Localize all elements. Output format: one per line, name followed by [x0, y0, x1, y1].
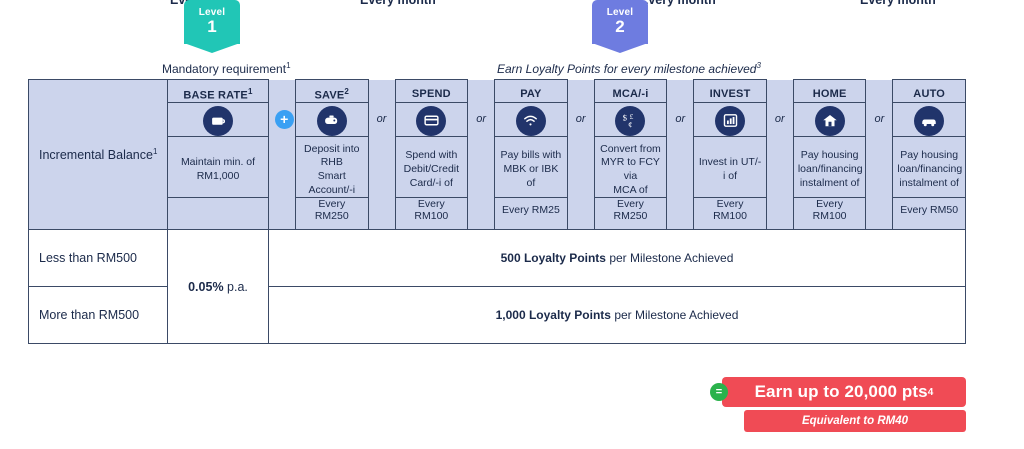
- piggy-bank-icon: [317, 106, 347, 136]
- or-connector-5: or: [766, 102, 793, 136]
- top-cutoff-row: Every day Every month Every month Every …: [0, 0, 1024, 12]
- desc-auto: Pay housing loan/financing instalment of: [893, 136, 966, 198]
- desc-pay: Pay bills with MBK or IBK of: [495, 136, 568, 198]
- spacer-desc-0: [269, 136, 296, 198]
- tier-2-points-value: 1,000 Loyalty Points: [496, 308, 611, 322]
- icon-cell-base-rate: [168, 102, 269, 136]
- wifi-contactless-icon: [516, 106, 546, 136]
- base-rate-suffix: p.a.: [224, 280, 248, 294]
- column-title-invest: INVEST: [694, 80, 767, 103]
- tier-label-more-than: More than RM500: [29, 287, 168, 344]
- card-swipe-icon: [203, 106, 233, 136]
- spacer-every-6: [866, 198, 893, 230]
- column-title-pay: PAY: [495, 80, 568, 103]
- tier-1-points-value: 500 Loyalty Points: [501, 251, 606, 265]
- spacer-plus-title: [269, 80, 296, 103]
- credit-card-icon: [416, 106, 446, 136]
- rewards-matrix-table: Incremental Balance1 BASE RATE1 SAVE2 SP…: [28, 79, 966, 344]
- level-1-number: 1: [207, 18, 216, 36]
- every-base-rate: [168, 198, 269, 230]
- spacer-or-title-3: [567, 80, 594, 103]
- base-rate-value-cell: 0.05% p.a.: [168, 230, 269, 344]
- column-title-auto: AUTO: [893, 80, 966, 103]
- incremental-balance-label-cell: Incremental Balance1: [29, 80, 168, 230]
- spacer-desc-6: [866, 136, 893, 198]
- table-row-icons: + or or: [29, 102, 966, 136]
- earn-up-to-text: Earn up to 20,000 pts: [755, 382, 928, 402]
- icon-cell-home: [793, 102, 866, 136]
- equivalent-banner: Equivalent to RM40: [744, 410, 966, 432]
- coin-icon: =: [710, 383, 728, 401]
- spacer-every-4: [667, 198, 694, 230]
- every-home: Every RM100: [793, 198, 866, 230]
- level-2-number: 2: [615, 18, 624, 36]
- icon-cell-auto: [893, 102, 966, 136]
- every-save: Every RM250: [296, 198, 369, 230]
- spacer-every-1: [368, 198, 395, 230]
- table-row-tier-1: Less than RM500 0.05% p.a. 500 Loyalty P…: [29, 230, 966, 287]
- plus-icon: +: [275, 110, 294, 129]
- tier-1-points-cell: 500 Loyalty Points per Milestone Achieve…: [269, 230, 966, 287]
- every-auto: Every RM50: [893, 198, 966, 230]
- or-connector-2: or: [468, 102, 495, 136]
- spacer-desc-3: [567, 136, 594, 198]
- spacer-every-5: [766, 198, 793, 230]
- mandatory-requirement-caption: Mandatory requirement1: [162, 61, 291, 76]
- top-cut-text-2: Every month: [640, 0, 716, 7]
- spacer-desc-1: [368, 136, 395, 198]
- column-title-base-rate: BASE RATE1: [168, 80, 269, 103]
- desc-base-rate: Maintain min. of RM1,000: [168, 136, 269, 198]
- tier-2-points-cell: 1,000 Loyalty Points per Milestone Achie…: [269, 287, 966, 344]
- earn-loyalty-points-superscript: 3: [756, 61, 760, 70]
- infographic-canvas: Every day Every month Every month Every …: [0, 0, 1024, 449]
- column-title-save: SAVE2: [296, 80, 369, 103]
- bar-chart-icon: [715, 106, 745, 136]
- desc-spend: Spend with Debit/Credit Card/-i of: [395, 136, 468, 198]
- desc-mca: Convert from MYR to FCY via MCA of: [594, 136, 667, 198]
- icon-cell-pay: [495, 102, 568, 136]
- column-title-spend: SPEND: [395, 80, 468, 103]
- desc-save: Deposit into RHB Smart Account/-i: [296, 136, 369, 198]
- or-connector-4: or: [667, 102, 694, 136]
- or-connector-3: or: [567, 102, 594, 136]
- earn-loyalty-points-text: Earn Loyalty Points for every milestone …: [497, 62, 756, 76]
- earn-up-to-banner: = Earn up to 20,000 pts4: [722, 377, 966, 407]
- spacer-desc-5: [766, 136, 793, 198]
- tier-label-less-than: Less than RM500: [29, 230, 168, 287]
- table-row-descriptions: Maintain min. of RM1,000 Deposit into RH…: [29, 136, 966, 198]
- icon-cell-save: [296, 102, 369, 136]
- house-icon: [815, 106, 845, 136]
- level-1-badge: Level 1: [184, 0, 240, 44]
- column-title-home: HOME: [793, 80, 866, 103]
- every-invest: Every RM100: [694, 198, 767, 230]
- top-cut-text-3: Every month: [860, 0, 936, 7]
- spacer-desc-4: [667, 136, 694, 198]
- svg-text:$: $: [623, 113, 628, 123]
- plus-connector-cell: +: [269, 102, 296, 136]
- column-title-mca: MCA/-i: [594, 80, 667, 103]
- car-icon: [914, 106, 944, 136]
- table-row-column-titles: Incremental Balance1 BASE RATE1 SAVE2 SP…: [29, 80, 966, 103]
- earn-up-to-superscript: 4: [928, 387, 934, 398]
- currency-exchange-icon: $ £ ¢: [615, 106, 645, 136]
- icon-cell-spend: [395, 102, 468, 136]
- top-cut-text-1: Every month: [360, 0, 436, 7]
- desc-invest: Invest in UT/-i of: [694, 136, 767, 198]
- spacer-every-0: [269, 198, 296, 230]
- spacer-or-title-1: [368, 80, 395, 103]
- tier-1-points-suffix: per Milestone Achieved: [606, 251, 733, 265]
- base-rate-percent: 0.05%: [188, 280, 223, 294]
- table-row-every-amount: Every RM250 Every RM100 Every RM25 Every…: [29, 198, 966, 230]
- icon-cell-mca: $ £ ¢: [594, 102, 667, 136]
- spacer-every-2: [468, 198, 495, 230]
- spacer-or-title-5: [766, 80, 793, 103]
- every-pay: Every RM25: [495, 198, 568, 230]
- or-connector-6: or: [866, 102, 893, 136]
- every-mca: Every RM250: [594, 198, 667, 230]
- earn-loyalty-points-caption: Earn Loyalty Points for every milestone …: [497, 61, 761, 76]
- or-connector-1: or: [368, 102, 395, 136]
- mandatory-requirement-text: Mandatory requirement: [162, 62, 286, 76]
- desc-home: Pay housing loan/financing instalment of: [793, 136, 866, 198]
- spacer-every-3: [567, 198, 594, 230]
- spacer-or-title-4: [667, 80, 694, 103]
- spacer-or-title-6: [866, 80, 893, 103]
- svg-text:¢: ¢: [628, 120, 632, 130]
- spacer-or-title-2: [468, 80, 495, 103]
- icon-cell-invest: [694, 102, 767, 136]
- spacer-desc-2: [468, 136, 495, 198]
- mandatory-requirement-superscript: 1: [286, 61, 290, 70]
- every-spend: Every RM100: [395, 198, 468, 230]
- incremental-balance-superscript: 1: [153, 147, 157, 156]
- incremental-balance-label: Incremental Balance: [39, 148, 153, 162]
- tier-2-points-suffix: per Milestone Achieved: [611, 308, 738, 322]
- level-2-badge: Level 2: [592, 0, 648, 44]
